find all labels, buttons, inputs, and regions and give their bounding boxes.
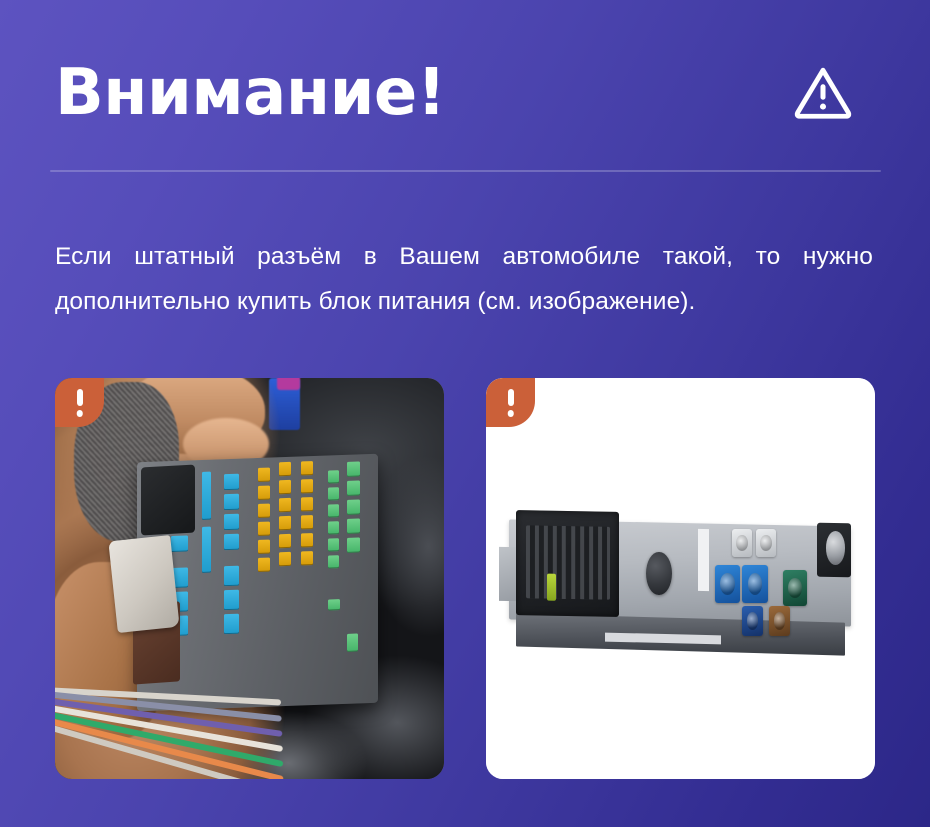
body-text-line-2: дополнительно купить блок питания (см. и… — [55, 279, 873, 324]
warning-banner-page: Внимание! Если штатный разъём в Вашем ав… — [0, 0, 930, 827]
page-title: Внимание! — [55, 61, 446, 125]
warning-triangle-icon — [792, 62, 854, 124]
connector-photo — [55, 378, 444, 779]
power-unit-photo — [486, 378, 875, 779]
photo-card-power-unit[interactable] — [486, 378, 875, 779]
power-supply-module — [509, 518, 851, 646]
body-text-line-1: Если штатный разъём в Вашем автомобиле т… — [55, 234, 873, 279]
body-copy: Если штатный разъём в Вашем автомобиле т… — [55, 234, 873, 324]
divider — [50, 170, 881, 172]
photo-card-connector[interactable] — [55, 378, 444, 779]
header: Внимание! — [55, 52, 880, 134]
photo-card-list — [55, 378, 875, 779]
